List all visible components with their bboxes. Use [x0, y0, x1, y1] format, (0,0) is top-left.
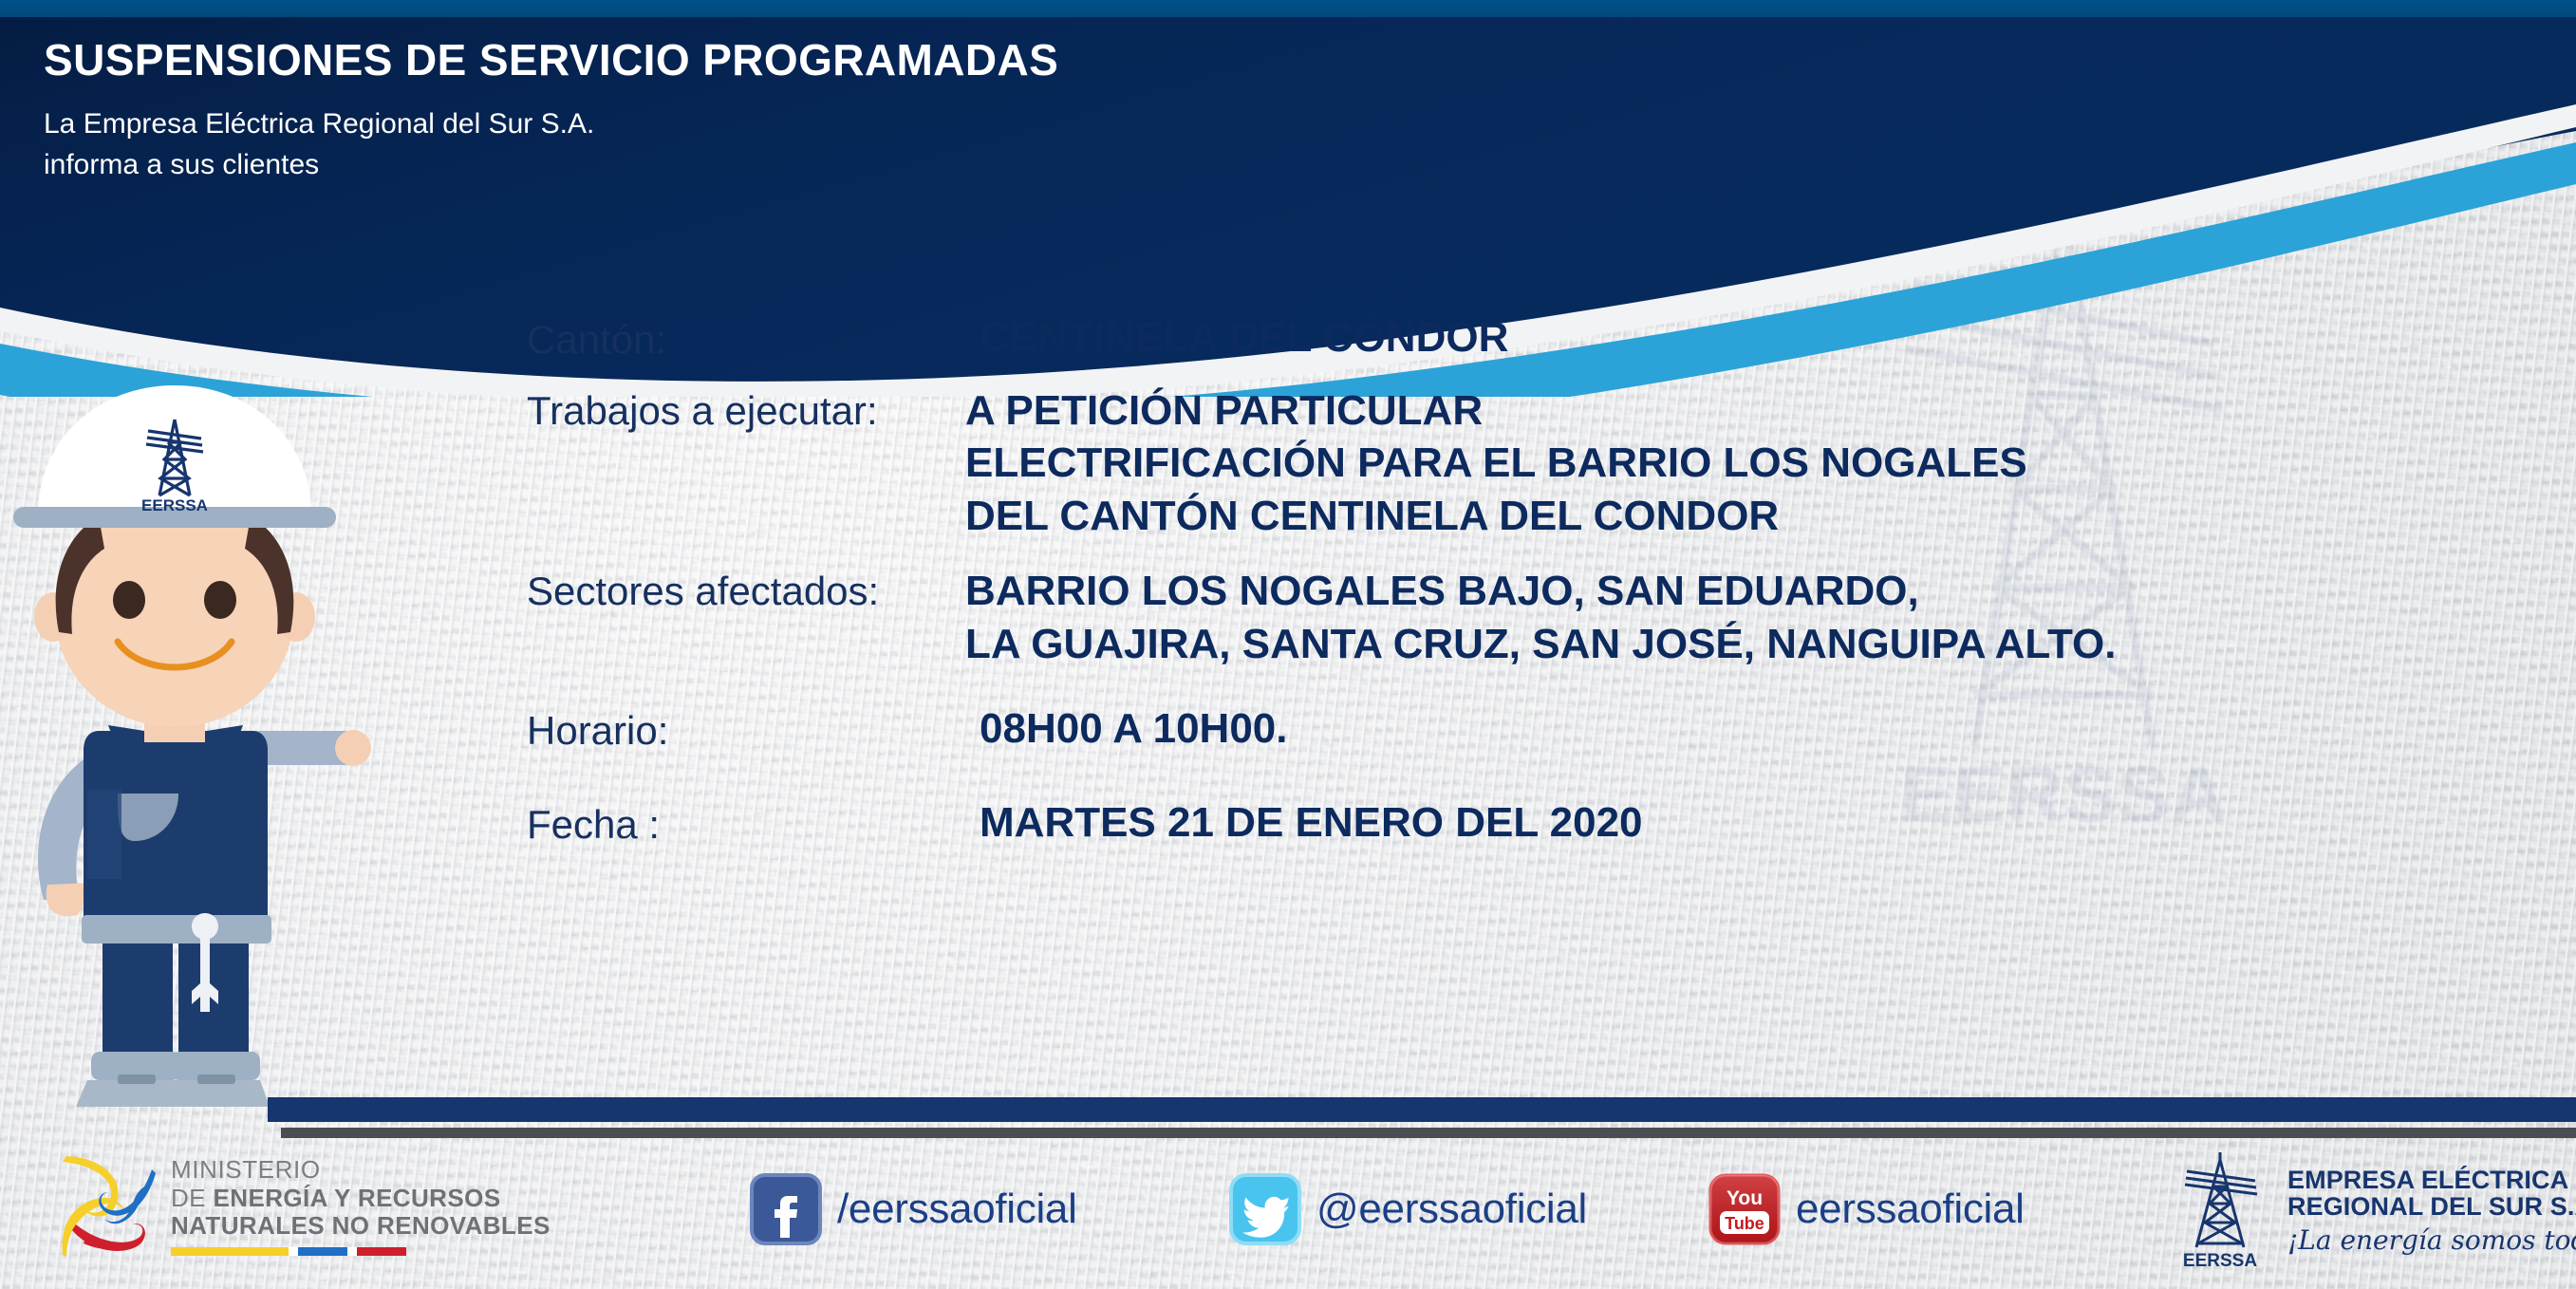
svg-text:You: You [1727, 1187, 1763, 1209]
eerssa-company-logo: EERSSA EMPRESA ELÉCTRICA REGIONAL DEL SU… [2164, 1149, 2576, 1272]
youtube-handle[interactable]: eerssaoficial [1796, 1186, 2025, 1233]
header-text-block: SUSPENSIONES DE SERVICIO PROGRAMADAS La … [44, 38, 1467, 185]
info-row-horario: Horario: 08H00 A 10H00. [527, 704, 2548, 755]
horario-value: 08H00 A 10H00. [980, 704, 1288, 755]
twitter-social-link[interactable]: @eerssaoficial [1229, 1173, 1587, 1245]
ministry-line-2-bold: ENERGÍA Y RECURSOS [214, 1184, 501, 1212]
footer: MINISTERIO DE ENERGÍA Y RECURSOS NATURAL… [0, 1135, 2576, 1289]
trabajos-value-line-3: DEL CANTÓN CENTINELA DEL CONDOR [965, 490, 2027, 542]
sectores-value-line-1: BARRIO LOS NOGALES BAJO, SAN EDUARDO, [965, 565, 2117, 617]
helmet-logo-text: EERSSA [141, 496, 208, 514]
facebook-social-link[interactable]: /eerssaoficial [750, 1173, 1077, 1245]
company-name-line-1: EMPRESA ELÉCTRICA [2287, 1167, 2576, 1194]
top-accent-strip [0, 0, 2576, 17]
facebook-handle[interactable]: /eerssaoficial [837, 1186, 1077, 1233]
info-row-sectores: Sectores afectados: BARRIO LOS NOGALES B… [527, 565, 2548, 670]
poster-canvas: EERSSA SUSPENSIONES DE SERVICIO PROGRAMA… [0, 0, 2576, 1289]
sectores-label: Sectores afectados: [527, 565, 965, 613]
sectores-value-line-2: LA GUAJIRA, SANTA CRUZ, SAN JOSÉ, NANGUI… [965, 618, 2117, 670]
svg-text:Tube: Tube [1725, 1214, 1764, 1233]
footer-divider-navy [268, 1097, 2576, 1122]
trabajos-value-line-2: ELECTRIFICACIÓN PARA EL BARRIO LOS NOGAL… [965, 437, 2027, 489]
page-title: SUSPENSIONES DE SERVICIO PROGRAMADAS [44, 38, 1467, 82]
eerssa-tower-icon: EERSSA [2164, 1149, 2276, 1272]
canton-label: Cantón: [527, 313, 980, 362]
canton-value: CENTINELA DEL CÓNDOR [980, 313, 1508, 364]
trabajos-value-line-1: A PETICIÓN PARTICULAR [965, 384, 2027, 437]
info-row-trabajos: Trabajos a ejecutar: A PETICIÓN PARTICUL… [527, 384, 2548, 542]
trabajos-value: A PETICIÓN PARTICULAR ELECTRIFICACIÓN PA… [965, 384, 2027, 542]
ministry-line-2-prefix: DE [171, 1184, 214, 1212]
horario-label: Horario: [527, 704, 980, 753]
header-subtitle-line2: informa a sus clientes [44, 149, 319, 180]
twitter-handle[interactable]: @eerssaoficial [1316, 1186, 1587, 1233]
fecha-label: Fecha : [527, 798, 980, 847]
service-info-table: Cantón: CENTINELA DEL CÓNDOR Trabajos a … [527, 313, 2548, 849]
ministry-line-3: NATURALES NO RENOVABLES [171, 1212, 551, 1241]
info-row-fecha: Fecha : MARTES 21 DE ENERO DEL 2020 [527, 798, 2548, 849]
facebook-icon[interactable] [750, 1173, 822, 1245]
ministry-line-1: MINISTERIO [171, 1156, 551, 1185]
fecha-value: MARTES 21 DE ENERO DEL 2020 [980, 798, 1643, 849]
youtube-icon[interactable]: You Tube [1708, 1173, 1781, 1245]
header-subtitle-line1: La Empresa Eléctrica Regional del Sur S.… [44, 108, 594, 140]
trabajos-label: Trabajos a ejecutar: [527, 384, 965, 433]
ministry-text-block: MINISTERIO DE ENERGÍA Y RECURSOS NATURAL… [171, 1156, 551, 1256]
eerssa-logo-text: EERSSA [2183, 1251, 2257, 1271]
sectores-value: BARRIO LOS NOGALES BAJO, SAN EDUARDO, LA… [965, 565, 2117, 670]
ministry-logo-icon [57, 1150, 161, 1262]
twitter-icon[interactable] [1229, 1173, 1301, 1245]
company-slogan: ¡La energía somos todos! [2287, 1226, 2576, 1255]
youtube-social-link[interactable]: You Tube eerssaoficial [1708, 1173, 2025, 1245]
info-row-canton: Cantón: CENTINELA DEL CÓNDOR [527, 313, 2548, 364]
ecuador-flag-bar [171, 1247, 406, 1256]
worker-mascot-illustration: EERSSA [0, 347, 391, 1118]
company-name-line-2: REGIONAL DEL SUR S.A. [2287, 1193, 2576, 1221]
